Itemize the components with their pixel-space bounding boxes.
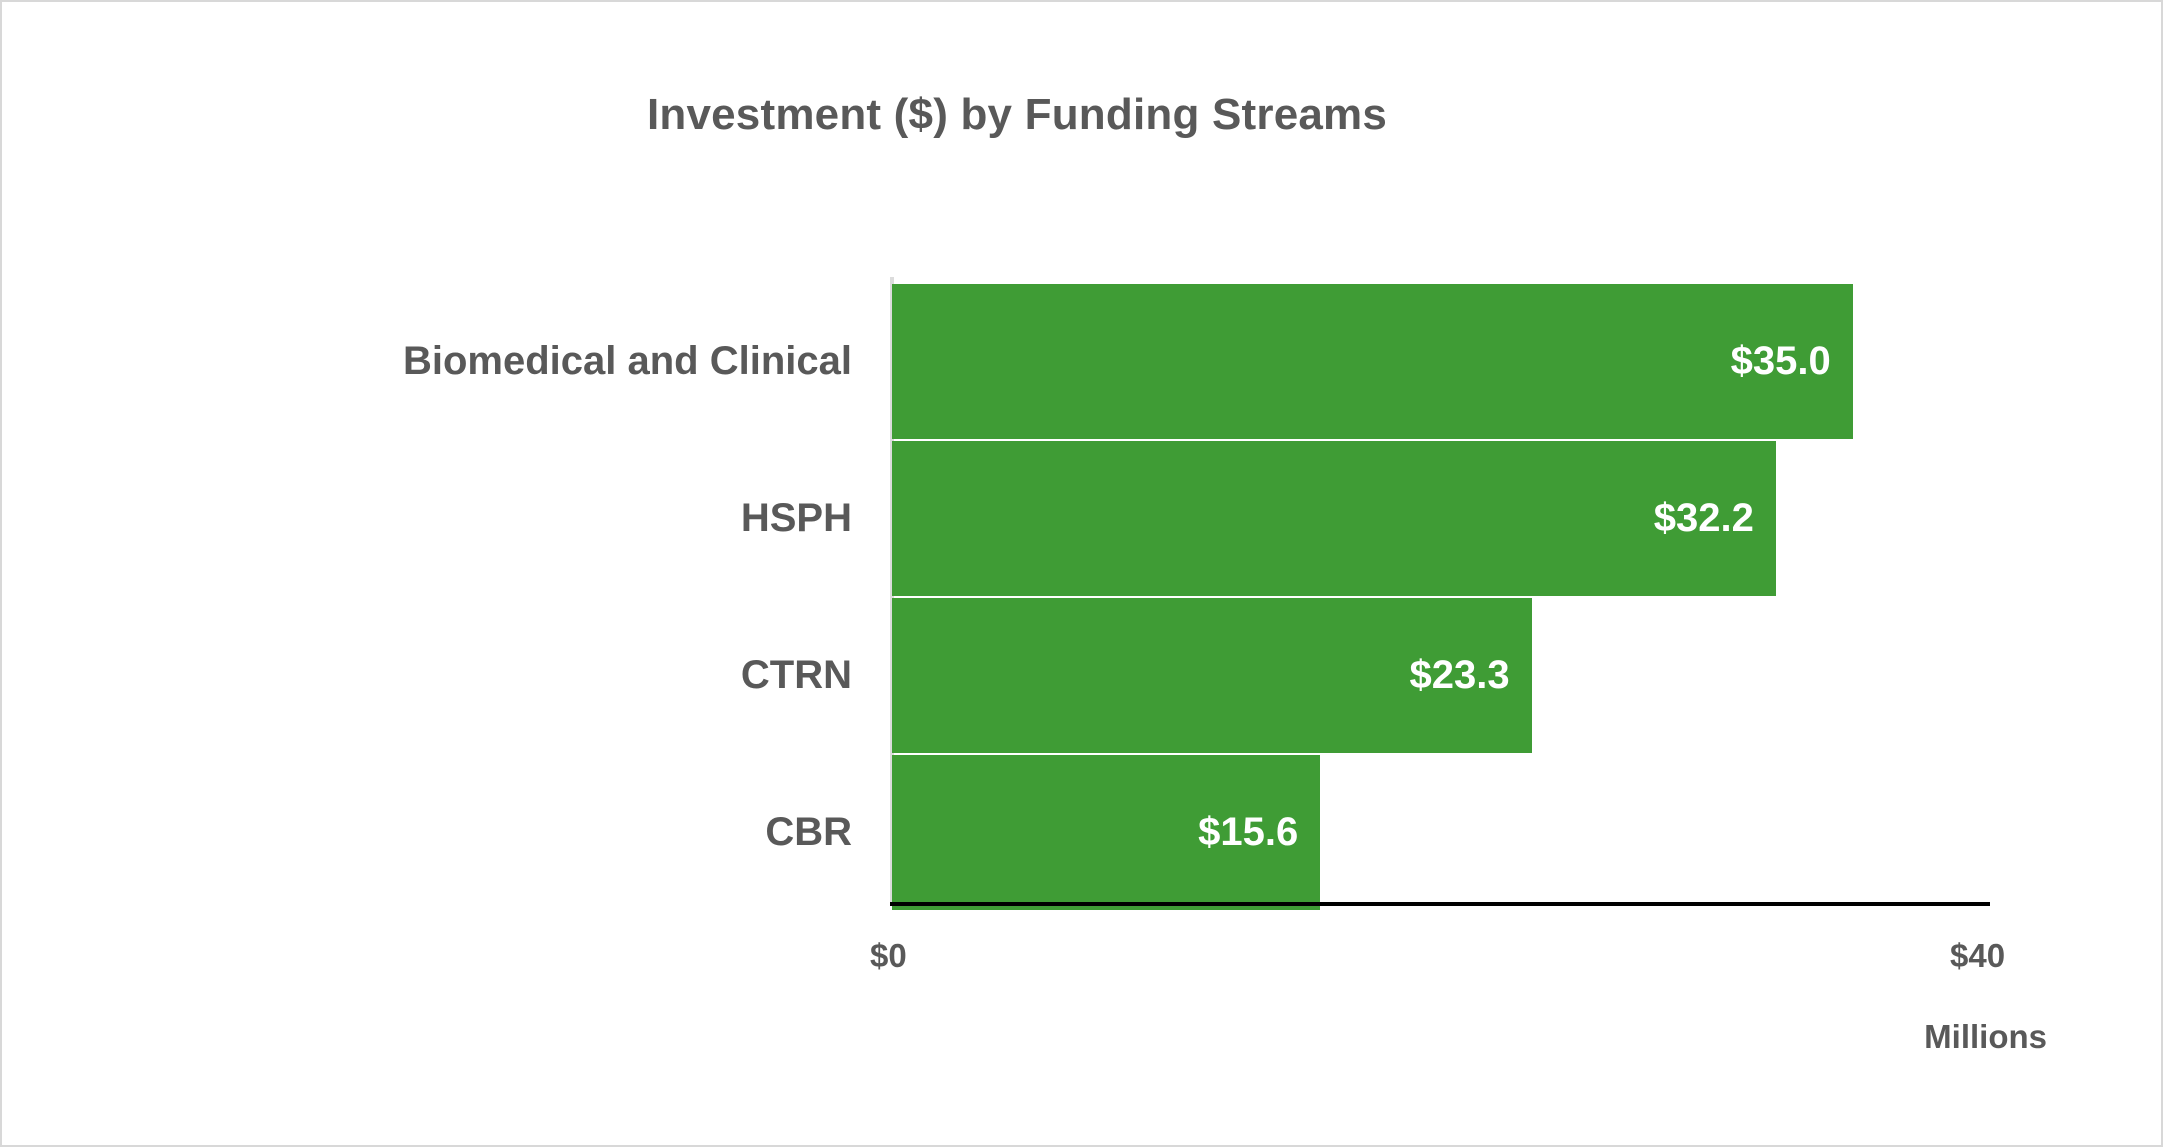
- x-axis-tick-max: $40: [1950, 937, 2005, 975]
- bar-row: CTRN $23.3: [2, 598, 2163, 753]
- bar-cbr[interactable]: $15.6: [892, 755, 1320, 910]
- category-label-ctrn: CTRN: [741, 598, 852, 753]
- bar-value-label: $23.3: [1409, 653, 1531, 698]
- category-label-cbr: CBR: [765, 755, 852, 910]
- bar-ctrn[interactable]: $23.3: [892, 598, 1532, 753]
- bar-row: HSPH $32.2: [2, 441, 2163, 596]
- bar-hsph[interactable]: $32.2: [892, 441, 1776, 596]
- bar-row: CBR $15.6: [2, 755, 2163, 910]
- chart-container: Investment ($) by Funding Streams Biomed…: [0, 0, 2163, 1147]
- category-label-hsph: HSPH: [741, 441, 852, 596]
- chart-title: Investment ($) by Funding Streams: [2, 90, 2032, 140]
- category-label-biomedical-and-clinical: Biomedical and Clinical: [403, 284, 852, 439]
- bar-value-label: $32.2: [1654, 496, 1776, 541]
- bar-biomedical-and-clinical[interactable]: $35.0: [892, 284, 1853, 439]
- category-axis-line: [890, 902, 1990, 906]
- plot-area: Biomedical and Clinical $35.0 HSPH $32.2…: [2, 277, 2163, 907]
- bar-track: $32.2: [892, 441, 1990, 596]
- bar-track: $23.3: [892, 598, 1990, 753]
- x-axis-units-label: Millions: [2, 1018, 2047, 1056]
- x-axis-tick-min: $0: [870, 937, 907, 975]
- bar-track: $15.6: [892, 755, 1990, 910]
- bar-value-label: $15.6: [1198, 810, 1320, 855]
- bar-track: $35.0: [892, 284, 1990, 439]
- bar-value-label: $35.0: [1731, 339, 1853, 384]
- bar-row: Biomedical and Clinical $35.0: [2, 284, 2163, 439]
